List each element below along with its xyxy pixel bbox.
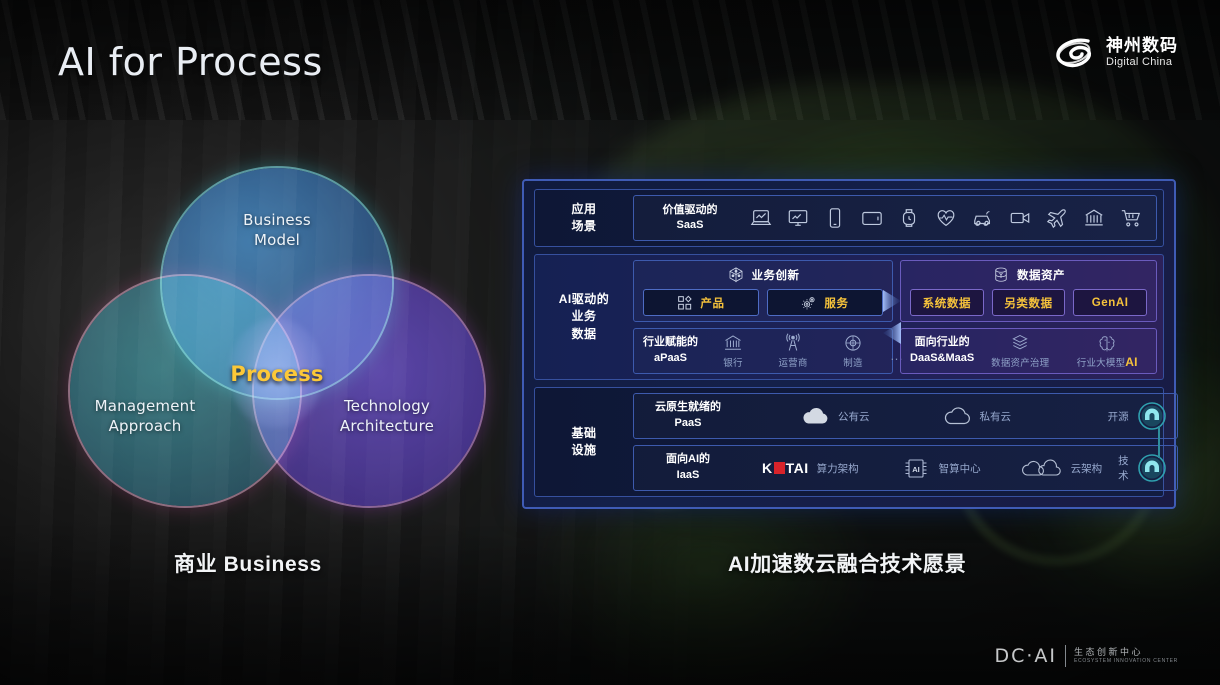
venn-label-management-line2: Approach	[70, 416, 220, 436]
daas-caption-industry-model: 行业大模型AI	[1077, 355, 1138, 369]
band-title-line1: 基础	[571, 425, 596, 442]
industry-caption-manufacturing: 制造	[843, 355, 862, 369]
caption-left: 商业 Business	[174, 548, 322, 578]
daas-caption-industry-model-ai: AI	[1125, 355, 1137, 369]
apaas-industry-items: 银行 运营商 制造 …	[710, 333, 905, 369]
business-innovation-column: 业务创新 产品 服务	[633, 260, 893, 374]
chip-alternative-data[interactable]: 另类数据	[992, 289, 1066, 316]
infra-caption-technology: 技术	[1118, 453, 1129, 483]
iaas-label: 面向AI的 IaaS	[644, 452, 732, 484]
daas-maas-box[interactable]: 面向行业的 DaaS&MaaS 数据资产治理 行业大模型AI	[900, 328, 1157, 374]
multi-cloud-icon	[1021, 457, 1063, 479]
chip-service[interactable]: 服务	[767, 289, 883, 316]
industry-item-bank[interactable]: 银行	[710, 333, 756, 369]
caption-right: AI加速数云融合技术愿景	[728, 548, 966, 578]
manufacturing-gear-icon	[843, 333, 863, 353]
architecture-panel: 应用 场景 价值驱动的 SaaS	[522, 179, 1176, 509]
infra-caption-cloud-architecture: 云架构	[1071, 461, 1103, 476]
saas-label-line1: 价值驱动的	[644, 203, 736, 218]
page-title: AI for Process	[58, 40, 323, 84]
saas-label: 价值驱动的 SaaS	[644, 203, 736, 234]
product-blocks-icon	[677, 295, 693, 311]
daas-item-data-governance[interactable]: 数据资产治理	[986, 333, 1054, 369]
paas-label: 云原生就绪的 PaaS	[644, 400, 732, 432]
chip-genai[interactable]: GenAI	[1073, 289, 1147, 316]
daas-maas-items: 数据资产治理 行业大模型AI	[986, 333, 1146, 369]
venn-label-management-line1: Management	[70, 396, 220, 416]
gears-icon	[801, 295, 817, 311]
business-innovation-chips: 产品 服务	[643, 289, 883, 316]
data-assets-label: 数据资产	[1017, 267, 1065, 283]
saas-label-line2: SaaS	[644, 218, 736, 233]
slide-canvas: AI for Process 神州数码 Digital China Busine…	[0, 0, 1220, 685]
infra-caption-open-source: 开源	[1108, 409, 1129, 424]
footer-center-en: ECOSYSTEM INNOVATION CENTER	[1074, 659, 1178, 665]
data-assets-column: 数据资产 系统数据 另类数据 GenAI	[900, 260, 1157, 374]
band-title-line2: 设施	[571, 442, 596, 459]
business-innovation-header: 业务创新	[643, 266, 883, 284]
band-body-ai-driven-business-data: 业务创新 产品 服务	[633, 260, 1157, 374]
infra-caption-private-cloud: 私有云	[980, 409, 1012, 424]
band-title-application-scenarios: 应用 场景	[541, 195, 627, 241]
industry-item-manufacturing[interactable]: 制造	[830, 333, 876, 369]
venn-label-business-line1: Business	[217, 210, 337, 230]
infra-caption-intelligent-computing-center: 智算中心	[939, 461, 981, 476]
footer-text-block: 生态创新中心 ECOSYSTEM INNOVATION CENTER	[1074, 647, 1178, 665]
infra-item-private-cloud[interactable]: 私有云	[942, 405, 1012, 427]
infra-item-public-cloud[interactable]: 公有云	[800, 405, 870, 427]
daas-item-industry-model[interactable]: 行业大模型AI	[1068, 333, 1146, 369]
network-cube-icon	[727, 266, 745, 284]
infra-item-intelligent-computing-center[interactable]: AI 智算中心	[901, 457, 981, 479]
brand-logo: 神州数码 Digital China	[1054, 36, 1178, 70]
airplane-icon[interactable]	[1046, 207, 1068, 229]
bank-icon	[723, 333, 743, 353]
iaas-row[interactable]: 面向AI的 IaaS KTAI 算力架构 AI 智算中心 云架构	[633, 445, 1178, 491]
car-icon[interactable]	[972, 207, 994, 229]
tablet-icon[interactable]	[861, 207, 883, 229]
data-assets-box[interactable]: 数据资产 系统数据 另类数据 GenAI	[900, 260, 1157, 322]
shopping-cart-icon[interactable]	[1120, 207, 1142, 229]
laptop-chart-icon[interactable]	[750, 207, 772, 229]
smartwatch-icon[interactable]	[898, 207, 920, 229]
venn-diagram: Business Model Management Approach Techn…	[62, 168, 462, 513]
business-innovation-label: 业务创新	[752, 267, 800, 283]
infra-item-cloud-architecture[interactable]: 云架构	[1021, 457, 1103, 479]
data-assets-chips: 系统数据 另类数据 GenAI	[910, 289, 1147, 316]
band-title-ai-driven-business-data: AI驱动的 业务 数据	[541, 260, 627, 374]
footer-center-cn: 生态创新中心	[1074, 647, 1178, 657]
industry-caption-telecom: 运营商	[778, 355, 807, 369]
venn-label-technology: Technology Architecture	[312, 396, 462, 437]
band-title-infrastructure: 基础 设施	[541, 393, 627, 491]
saas-box[interactable]: 价值驱动的 SaaS	[633, 195, 1157, 241]
venn-label-business: Business Model	[217, 210, 337, 251]
paas-row[interactable]: 云原生就绪的 PaaS 公有云 私有云 开源	[633, 393, 1178, 439]
loop-ring-icon	[1137, 453, 1167, 483]
chip-service-label: 服务	[824, 295, 848, 311]
database-icon	[992, 266, 1010, 284]
infra-caption-public-cloud: 公有云	[838, 409, 870, 424]
scenario-icon-row	[750, 207, 1146, 229]
kuntai-block	[774, 462, 785, 474]
spiral-logo-icon	[1054, 36, 1096, 70]
apaas-label: 行业赋能的 aPaaS	[643, 335, 698, 367]
svg-text:AI: AI	[912, 465, 920, 474]
infra-item-compute-architecture[interactable]: KTAI 算力架构	[762, 460, 859, 476]
venn-label-technology-line1: Technology	[312, 396, 462, 416]
iaas-label-line1: 面向AI的	[644, 452, 732, 468]
venn-label-process: Process	[217, 360, 337, 388]
chip-product[interactable]: 产品	[643, 289, 759, 316]
cloud-outline-icon	[942, 405, 972, 427]
band-title-line2: 业务	[571, 308, 596, 325]
brand-name-en: Digital China	[1106, 57, 1178, 69]
infra-caption-compute-architecture: 算力架构	[817, 461, 859, 476]
band-title-line3: 数据	[571, 326, 596, 343]
cloud-filled-icon	[800, 405, 830, 427]
kuntai-logo: KTAI	[762, 460, 809, 476]
venn-label-management: Management Approach	[70, 396, 220, 437]
ring-connector-line	[1158, 426, 1160, 458]
venn-label-technology-line2: Architecture	[312, 416, 462, 436]
heartbeat-icon[interactable]	[935, 207, 957, 229]
bank-icon[interactable]	[1083, 207, 1105, 229]
band-application-scenarios: 应用 场景 价值驱动的 SaaS	[534, 189, 1164, 247]
band-title-line1: AI驱动的	[559, 291, 610, 308]
band-title-line2: 场景	[571, 218, 596, 235]
video-camera-icon[interactable]	[1009, 207, 1031, 229]
chip-genai-label: GenAI	[1092, 297, 1129, 309]
band-ai-driven-business-data: AI驱动的 业务 数据 业务创新 产品	[534, 254, 1164, 380]
band-infrastructure: 基础 设施 云原生就绪的 PaaS 公有云	[534, 387, 1164, 497]
brain-circuit-icon	[1097, 333, 1117, 353]
daas-maas-label: 面向行业的 DaaS&MaaS	[910, 335, 974, 367]
apaas-label-line2: aPaaS	[643, 351, 698, 367]
chip-alternative-data-label: 另类数据	[1004, 295, 1052, 311]
footer-divider	[1065, 645, 1066, 667]
loop-ring-icon	[1137, 401, 1167, 431]
business-innovation-box[interactable]: 业务创新 产品 服务	[633, 260, 893, 322]
daas-caption-data-governance: 数据资产治理	[991, 355, 1049, 369]
apaas-box[interactable]: 行业赋能的 aPaaS 银行 运营商	[633, 328, 893, 374]
ai-chip-icon: AI	[901, 457, 931, 479]
brand-name-cn: 神州数码	[1106, 37, 1178, 55]
industry-item-telecom[interactable]: 运营商	[770, 333, 816, 369]
iaas-label-line2: IaaS	[644, 468, 732, 484]
paas-label-line2: PaaS	[644, 416, 732, 432]
daas-maas-label-line1: 面向行业的	[910, 335, 974, 351]
data-assets-header: 数据资产	[910, 266, 1147, 284]
chip-system-data-label: 系统数据	[923, 295, 971, 311]
chip-product-label: 产品	[700, 295, 724, 311]
apaas-label-line1: 行业赋能的	[643, 335, 698, 351]
daas-caption-industry-model-text: 行业大模型	[1077, 358, 1126, 369]
antenna-tower-icon	[783, 333, 803, 353]
band-body-infrastructure: 云原生就绪的 PaaS 公有云 私有云 开源	[633, 393, 1178, 491]
daas-maas-label-line2: DaaS&MaaS	[910, 351, 974, 367]
band-title-line1: 应用	[571, 201, 596, 218]
band-body-application-scenarios: 价值驱动的 SaaS	[633, 195, 1157, 241]
industry-caption-bank: 银行	[723, 355, 742, 369]
desktop-monitor-icon[interactable]	[787, 207, 809, 229]
footer-logo: DC·AI 生态创新中心 ECOSYSTEM INNOVATION CENTER	[994, 645, 1178, 667]
venn-label-business-line2: Model	[217, 230, 337, 250]
chip-system-data[interactable]: 系统数据	[910, 289, 984, 316]
paas-label-line1: 云原生就绪的	[644, 400, 732, 416]
data-layers-icon	[1010, 333, 1030, 353]
smartphone-icon[interactable]	[824, 207, 846, 229]
footer-dcai-text: DC·AI	[994, 645, 1057, 667]
